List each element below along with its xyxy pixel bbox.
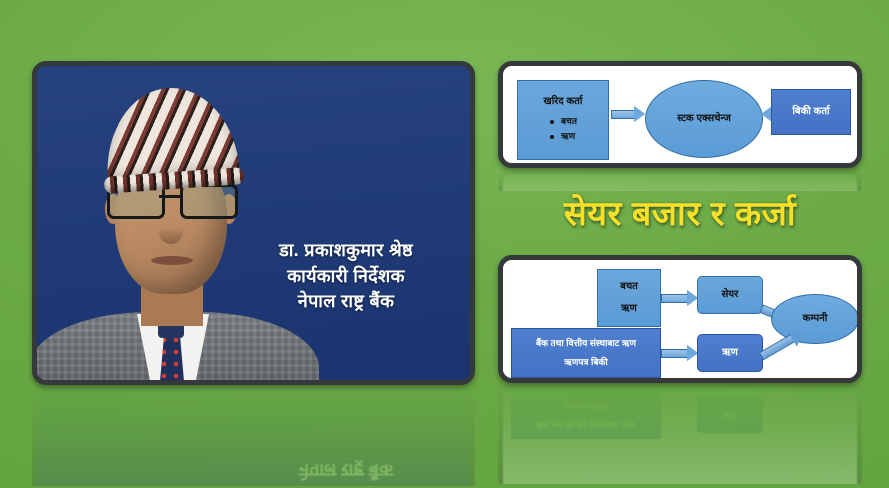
node-bank-loan-line1: बैंक तथा वित्तीय संस्थाबाट ऋण	[536, 337, 636, 350]
node-bank-loan-line2: ऋणपत्र बिकी	[564, 356, 607, 369]
portrait-panel: डा. प्रकाशकुमार श्रेष्ठ कार्यकारी निर्दे…	[32, 61, 475, 385]
reflection-line: ऋणपत्र बिकी	[564, 398, 607, 411]
node-loan-label: ऋण	[621, 302, 637, 317]
reflection-node-loan: ऋण	[697, 395, 763, 433]
glasses-bridge	[159, 195, 180, 198]
diagram-top-canvas: खरिद कर्ता बचत ऋण स्टक एक्सचेन्ज बिकी कर…	[503, 66, 857, 163]
slide-canvas: डा. प्रकाशकुमार श्रेष्ठ कार्यकारी निर्दे…	[0, 0, 889, 488]
node-loan: ऋण	[697, 334, 763, 372]
reflection-name-text: डा. प्रकाशकुमार श्रेष्ठ कार्यकारी निर्दे…	[240, 456, 452, 488]
dhaka-topi-icon	[102, 84, 240, 189]
diagram-bottom-reflection: बैंक तथा वित्तीय संस्थाबाट ऋण ऋणपत्र बिक…	[498, 384, 862, 484]
node-stock-exchange: स्टक एक्सचेन्ज	[645, 80, 763, 158]
mouth	[151, 256, 193, 265]
portrait-photo	[45, 66, 300, 380]
node-savings-loan: बचत ऋण	[597, 269, 661, 327]
diagram-panel-top: खरिद कर्ता बचत ऋण स्टक एक्सचेन्ज बिकी कर…	[498, 61, 862, 168]
reflection-surface: डा. प्रकाशकुमार श्रेष्ठ कार्यकारी निर्दे…	[32, 386, 475, 488]
lens-right	[180, 184, 238, 219]
node-buyer: खरिद कर्ता बचत ऋण	[517, 80, 609, 160]
speaker-designation: कार्यकारी निर्देशक	[240, 264, 452, 290]
reflection-line: कार्यकारी निर्देशक	[240, 482, 452, 488]
diagram-bottom-canvas: बचत ऋण सेयर कम्पनी बैंक तथा वित्तीय संस्…	[503, 260, 857, 378]
arrow-savings-to-share	[661, 290, 701, 306]
speaker-name: डा. प्रकाशकुमार श्रेष्ठ	[240, 238, 452, 264]
arrow-bank-to-loan	[661, 345, 701, 361]
node-buyer-bullets: बचत ऋण	[549, 113, 577, 145]
node-share: सेयर	[697, 276, 763, 314]
reflection-node-bank-loan: बैंक तथा वित्तीय संस्थाबाट ऋण ऋणपत्र बिक…	[511, 389, 661, 439]
reflection-surface: बैंक तथा वित्तीय संस्थाबाट ऋण ऋणपत्र बिक…	[498, 384, 862, 488]
portrait-reflection: डा. प्रकाशकुमार श्रेष्ठ कार्यकारी निर्दे…	[32, 386, 475, 486]
node-seller: बिकी कर्ता	[771, 89, 851, 135]
bullet-item: बचत	[549, 115, 577, 128]
reflection-line: नेपाल राष्ट्र बैंक	[240, 456, 452, 482]
page-title: सेयर बजार र कर्जा	[498, 186, 862, 238]
diagram-panel-bottom: बचत ऋण सेयर कम्पनी बैंक तथा वित्तीय संस्…	[498, 255, 862, 383]
node-savings-label: बचत	[620, 280, 638, 295]
speaker-organization: नेपाल राष्ट्र बैंक	[240, 289, 452, 315]
speaker-name-block: डा. प्रकाशकुमार श्रेष्ठ कार्यकारी निर्दे…	[240, 238, 452, 315]
node-buyer-title: खरिद कर्ता	[544, 95, 583, 110]
arrow-buyer-to-exchange	[611, 106, 647, 122]
bullet-item: ऋण	[549, 130, 577, 143]
node-bank-loan: बैंक तथा वित्तीय संस्थाबाट ऋण ऋणपत्र बिक…	[511, 328, 661, 378]
reflection-line: बैंक तथा वित्तीय संस्थाबाट ऋण	[536, 417, 636, 430]
nose	[159, 216, 183, 244]
